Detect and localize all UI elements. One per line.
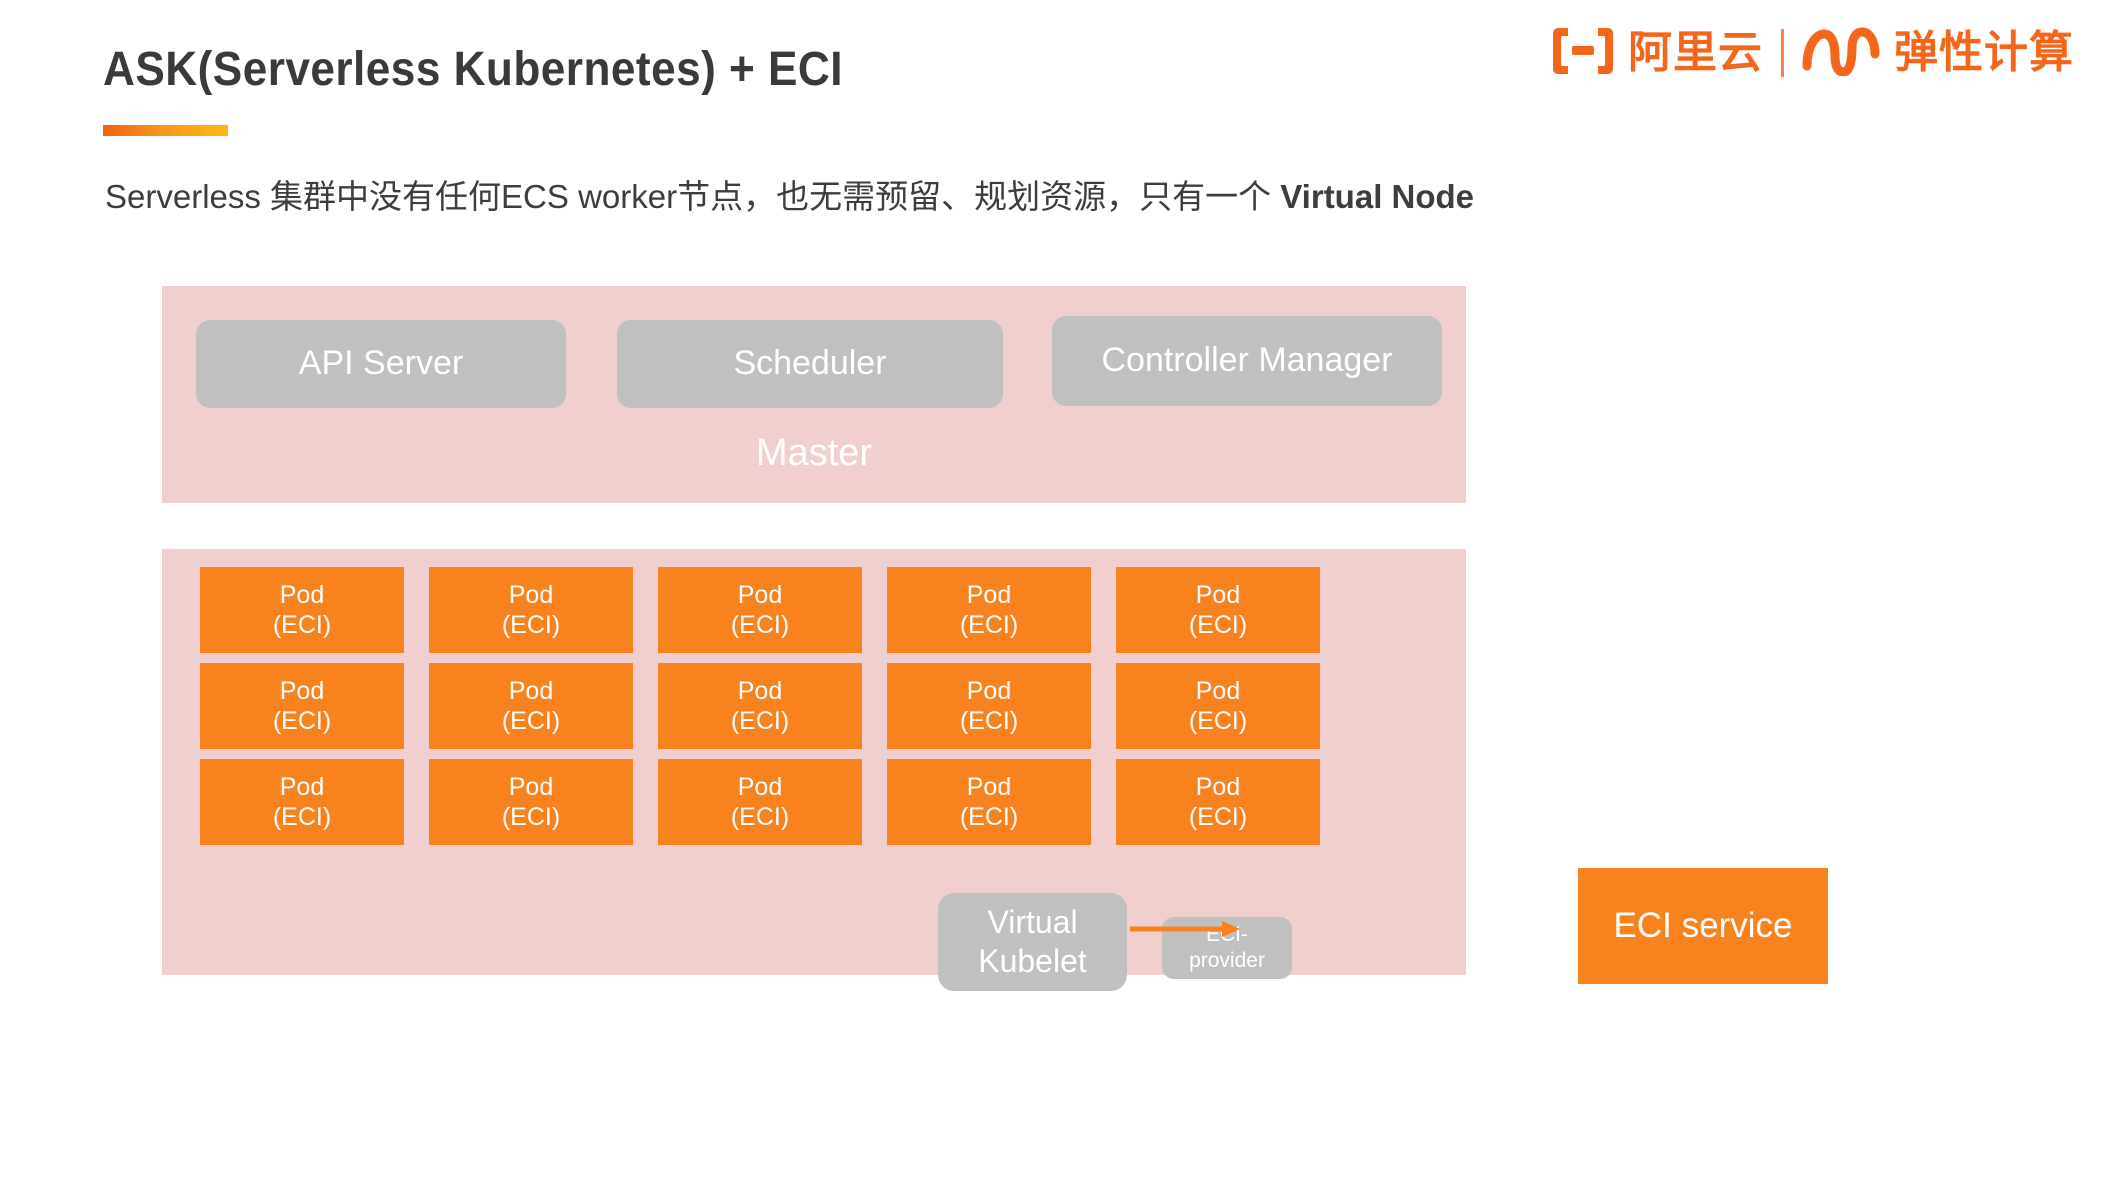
alibaba-cloud-bracket-icon	[1552, 25, 1614, 82]
page-title: ASK(Serverless Kubernetes) + ECI	[103, 42, 843, 97]
pod-box[interactable]: Pod(ECI)	[658, 663, 862, 749]
page-subtitle: Serverless 集群中没有任何ECS worker节点，也无需预留、规划资…	[105, 170, 1474, 218]
pod-label-type: (ECI)	[273, 802, 331, 832]
pod-box[interactable]: Pod(ECI)	[658, 567, 862, 653]
pod-label-type: (ECI)	[273, 706, 331, 736]
pod-box[interactable]: Pod(ECI)	[1116, 663, 1320, 749]
pod-label-type: (ECI)	[960, 610, 1018, 640]
brand-logo: 阿里云 弹性计算	[1552, 22, 2074, 84]
pod-label-type: (ECI)	[960, 802, 1018, 832]
logo-divider	[1781, 29, 1784, 77]
pod-box[interactable]: Pod(ECI)	[429, 759, 633, 845]
pod-box[interactable]: Pod(ECI)	[658, 759, 862, 845]
brand-name-cn: 阿里云	[1628, 31, 1763, 75]
title-accent-underline	[103, 125, 228, 136]
master-panel-label: Master	[162, 434, 1466, 472]
eci-provider-to-service-arrow-icon	[1130, 918, 1242, 940]
product-name-cn: 弹性计算	[1894, 31, 2074, 75]
pod-box[interactable]: Pod(ECI)	[429, 567, 633, 653]
pod-label-name: Pod	[738, 676, 782, 706]
pod-box[interactable]: Pod(ECI)	[1116, 567, 1320, 653]
pod-box[interactable]: Pod(ECI)	[200, 663, 404, 749]
pod-label-name: Pod	[1196, 772, 1240, 802]
pod-label-name: Pod	[1196, 676, 1240, 706]
pod-grid: Pod(ECI)Pod(ECI)Pod(ECI)Pod(ECI)Pod(ECI)…	[200, 567, 1320, 845]
pod-label-name: Pod	[280, 772, 324, 802]
pod-box[interactable]: Pod(ECI)	[429, 663, 633, 749]
pod-box[interactable]: Pod(ECI)	[887, 567, 1091, 653]
pod-label-name: Pod	[509, 580, 553, 610]
pod-label-type: (ECI)	[731, 706, 789, 736]
virtual-kubelet-line2: Kubelet	[978, 942, 1087, 981]
virtual-kubelet-line1: Virtual	[987, 903, 1077, 942]
pod-label-type: (ECI)	[502, 706, 560, 736]
component-virtual-kubelet[interactable]: Virtual Kubelet	[938, 893, 1127, 991]
pod-label-name: Pod	[738, 772, 782, 802]
pod-label-type: (ECI)	[1189, 802, 1247, 832]
eci-provider-line2: provider	[1189, 948, 1265, 974]
pod-label-name: Pod	[1196, 580, 1240, 610]
pod-label-type: (ECI)	[960, 706, 1018, 736]
pod-label-type: (ECI)	[731, 610, 789, 640]
pod-label-type: (ECI)	[273, 610, 331, 640]
pod-label-name: Pod	[509, 676, 553, 706]
pod-label-name: Pod	[280, 580, 324, 610]
component-api-server[interactable]: API Server	[196, 320, 566, 408]
pod-label-name: Pod	[509, 772, 553, 802]
elastic-compute-wave-icon	[1802, 26, 1880, 81]
pod-box[interactable]: Pod(ECI)	[200, 759, 404, 845]
pod-label-name: Pod	[280, 676, 324, 706]
master-panel: API Server Scheduler Controller Manager …	[162, 286, 1466, 503]
pod-box[interactable]: Pod(ECI)	[887, 663, 1091, 749]
component-controller-manager[interactable]: Controller Manager	[1052, 316, 1442, 406]
pod-box[interactable]: Pod(ECI)	[1116, 759, 1320, 845]
component-scheduler[interactable]: Scheduler	[617, 320, 1003, 408]
pod-label-name: Pod	[738, 580, 782, 610]
pod-label-type: (ECI)	[502, 610, 560, 640]
subtitle-emphasis: Virtual Node	[1280, 178, 1474, 215]
pod-label-type: (ECI)	[1189, 610, 1247, 640]
pod-label-name: Pod	[967, 772, 1011, 802]
pod-label-type: (ECI)	[1189, 706, 1247, 736]
pod-label-type: (ECI)	[731, 802, 789, 832]
subtitle-text: Serverless 集群中没有任何ECS worker节点，也无需预留、规划资…	[105, 178, 1280, 215]
pod-label-name: Pod	[967, 580, 1011, 610]
pod-label-type: (ECI)	[502, 802, 560, 832]
pod-box[interactable]: Pod(ECI)	[200, 567, 404, 653]
eci-service-box[interactable]: ECI service	[1578, 868, 1828, 984]
pod-box[interactable]: Pod(ECI)	[887, 759, 1091, 845]
virtual-node-panel: Pod(ECI)Pod(ECI)Pod(ECI)Pod(ECI)Pod(ECI)…	[162, 549, 1466, 975]
pod-label-name: Pod	[967, 676, 1011, 706]
